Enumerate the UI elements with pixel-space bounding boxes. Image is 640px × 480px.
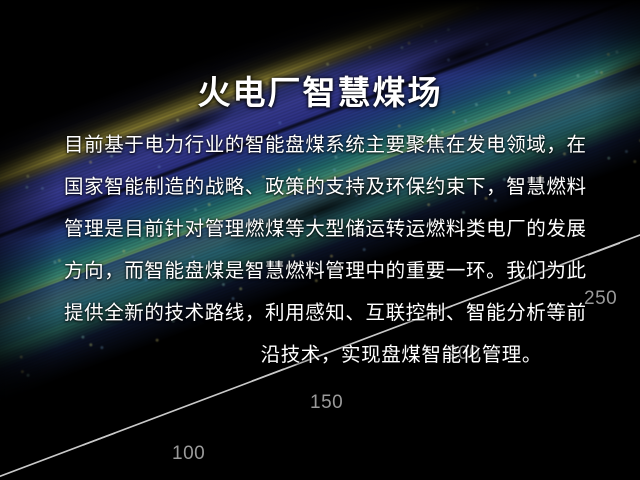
slide-canvas: 100 150 200 250 火电厂智慧煤场 目前基于电力行业的智能盘煤系统主… <box>0 0 640 480</box>
axis-tick-label-150: 150 <box>310 392 343 414</box>
body-line: 提供全新的技术路线，利用感知、互联控制、智能分析等前 <box>64 292 576 334</box>
axis-tick-100 <box>83 433 115 445</box>
axis-tick-label-250: 250 <box>584 288 617 310</box>
slide-title: 火电厂智慧煤场 <box>0 66 640 114</box>
body-line: 管理是目前针对管理燃煤等大型储运转运燃料类电厂的发展 <box>64 208 576 250</box>
body-line: 目前基于电力行业的智能盘煤系统主要聚焦在发电领域，在 <box>64 124 576 166</box>
slide-body: 目前基于电力行业的智能盘煤系统主要聚焦在发电领域，在 国家智能制造的战略、政策的… <box>64 124 576 376</box>
body-line: 沿技术，实现盘煤智能化管理。 <box>64 334 576 376</box>
body-line: 国家智能制造的战略、政策的支持及环保约束下，智慧燃料 <box>64 166 576 208</box>
body-line: 方向，而智能盘煤是智慧燃料管理中的重要一环。我们为此 <box>64 250 576 292</box>
axis-tick-label-100: 100 <box>172 443 205 465</box>
axis-tick-250 <box>588 243 620 255</box>
